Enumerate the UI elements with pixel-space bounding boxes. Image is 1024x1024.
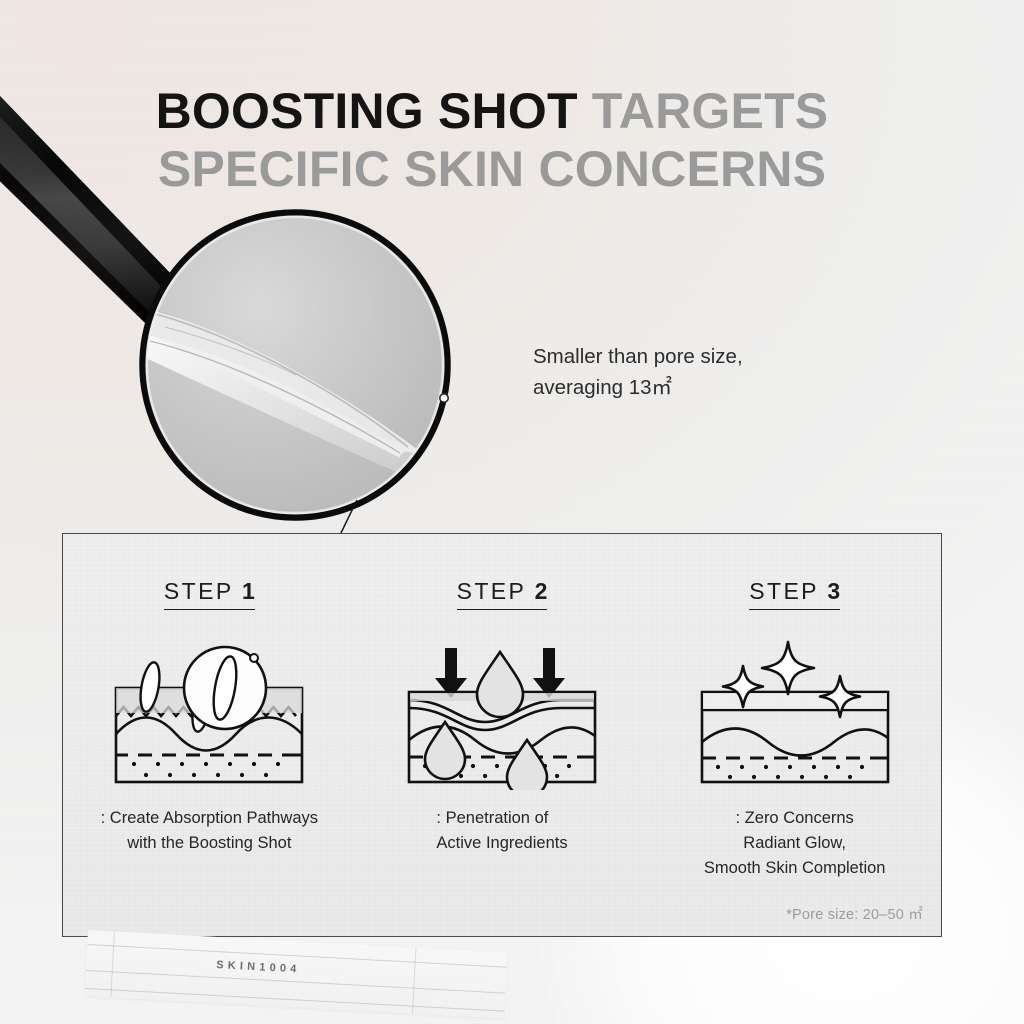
dermis-dots <box>132 762 280 777</box>
step-2-label: STEP <box>457 578 526 604</box>
brand-wordmark: SKIN1004 <box>216 959 301 976</box>
step-2-caption: : Penetration of Active Ingredients <box>436 806 567 856</box>
step-2: STEP 2 <box>356 534 649 936</box>
step-3-caption: : Zero Concerns Radiant Glow, Smooth Ski… <box>704 806 886 881</box>
magnifier-lens <box>126 210 450 520</box>
step-2-heading: STEP 2 <box>457 578 548 610</box>
infographic-canvas: BOOSTING SHOT TARGETS SPECIFIC SKIN CONC… <box>0 0 1024 1024</box>
title-word-targets: TARGETS <box>592 83 829 139</box>
step-3-heading: STEP 3 <box>749 578 840 610</box>
lens-annotation: Smaller than pore size, averaging 13㎡ <box>533 341 853 403</box>
step-1-label: STEP <box>164 578 233 604</box>
pore-size-footnote: *Pore size: 20–50 ㎡ <box>786 903 923 924</box>
lens-anchor-dot <box>440 394 448 402</box>
step-3: STEP 3 <box>648 534 941 936</box>
step-1-caption: : Create Absorption Pathways with the Bo… <box>101 806 318 856</box>
paper-vrule <box>412 948 417 1014</box>
steps-row: STEP 1 <box>63 534 941 936</box>
lens-annotation-line-2: averaging 13㎡ <box>533 372 853 403</box>
step-1-illustration <box>94 640 324 790</box>
dermis-dots <box>716 765 864 779</box>
step-3-illustration <box>680 640 910 790</box>
lens-annotation-line-1: Smaller than pore size, <box>533 341 853 372</box>
step-3-label: STEP <box>749 578 818 604</box>
step-3-number: 3 <box>827 578 840 604</box>
step-1-number: 1 <box>242 578 255 604</box>
magnifying-glass-icon <box>0 95 520 545</box>
step-1-heading: STEP 1 <box>164 578 255 610</box>
step-1-magnifier-circle <box>184 647 266 729</box>
step-1: STEP 1 <box>63 534 356 936</box>
step-2-illustration <box>387 640 617 790</box>
paper-vrule <box>110 931 115 997</box>
lens-content-microneedle <box>126 217 443 513</box>
step-2-number: 2 <box>535 578 548 604</box>
steps-panel: STEP 1 <box>62 533 942 937</box>
